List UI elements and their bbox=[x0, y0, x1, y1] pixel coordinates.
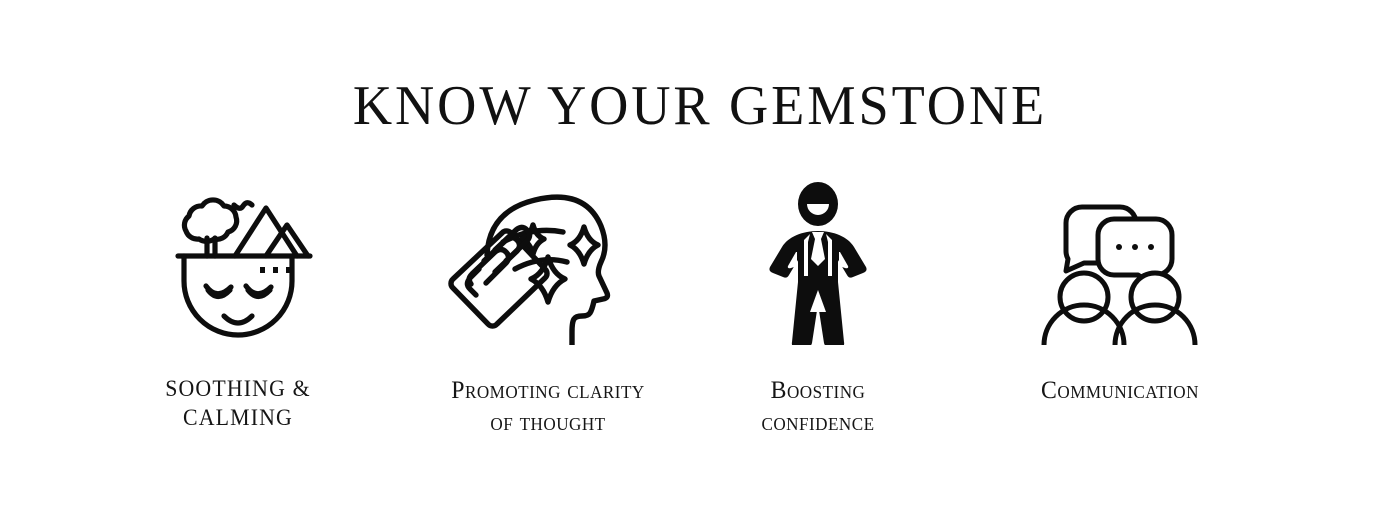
feature-item-communication: Communication bbox=[970, 180, 1270, 450]
feature-item-soothing-calming: SOOTHING & CALMING bbox=[88, 180, 388, 450]
page-title: KNOW YOUR GEMSTONE bbox=[21, 78, 1379, 134]
feature-item-boosting-confidence: Boosting confidence bbox=[668, 180, 968, 450]
feature-item-promoting-clarity: Promoting clarity of thought bbox=[398, 180, 698, 450]
two-people-speech-bubbles-icon bbox=[970, 180, 1270, 345]
head-nature-calm-face-icon bbox=[88, 180, 388, 345]
confident-businessman-icon bbox=[668, 180, 968, 345]
feature-label-soothing-calming: SOOTHING & CALMING bbox=[96, 375, 381, 433]
feature-columns: SOOTHING & CALMING bbox=[0, 180, 1400, 450]
head-profile-sparkle-wipe-icon bbox=[398, 180, 698, 345]
feature-label-communication: Communication bbox=[978, 375, 1263, 407]
banner: KNOW YOUR GEMSTONE bbox=[0, 0, 1400, 525]
feature-label-promoting-clarity: Promoting clarity of thought bbox=[406, 375, 691, 438]
feature-label-boosting-confidence: Boosting confidence bbox=[676, 375, 961, 438]
